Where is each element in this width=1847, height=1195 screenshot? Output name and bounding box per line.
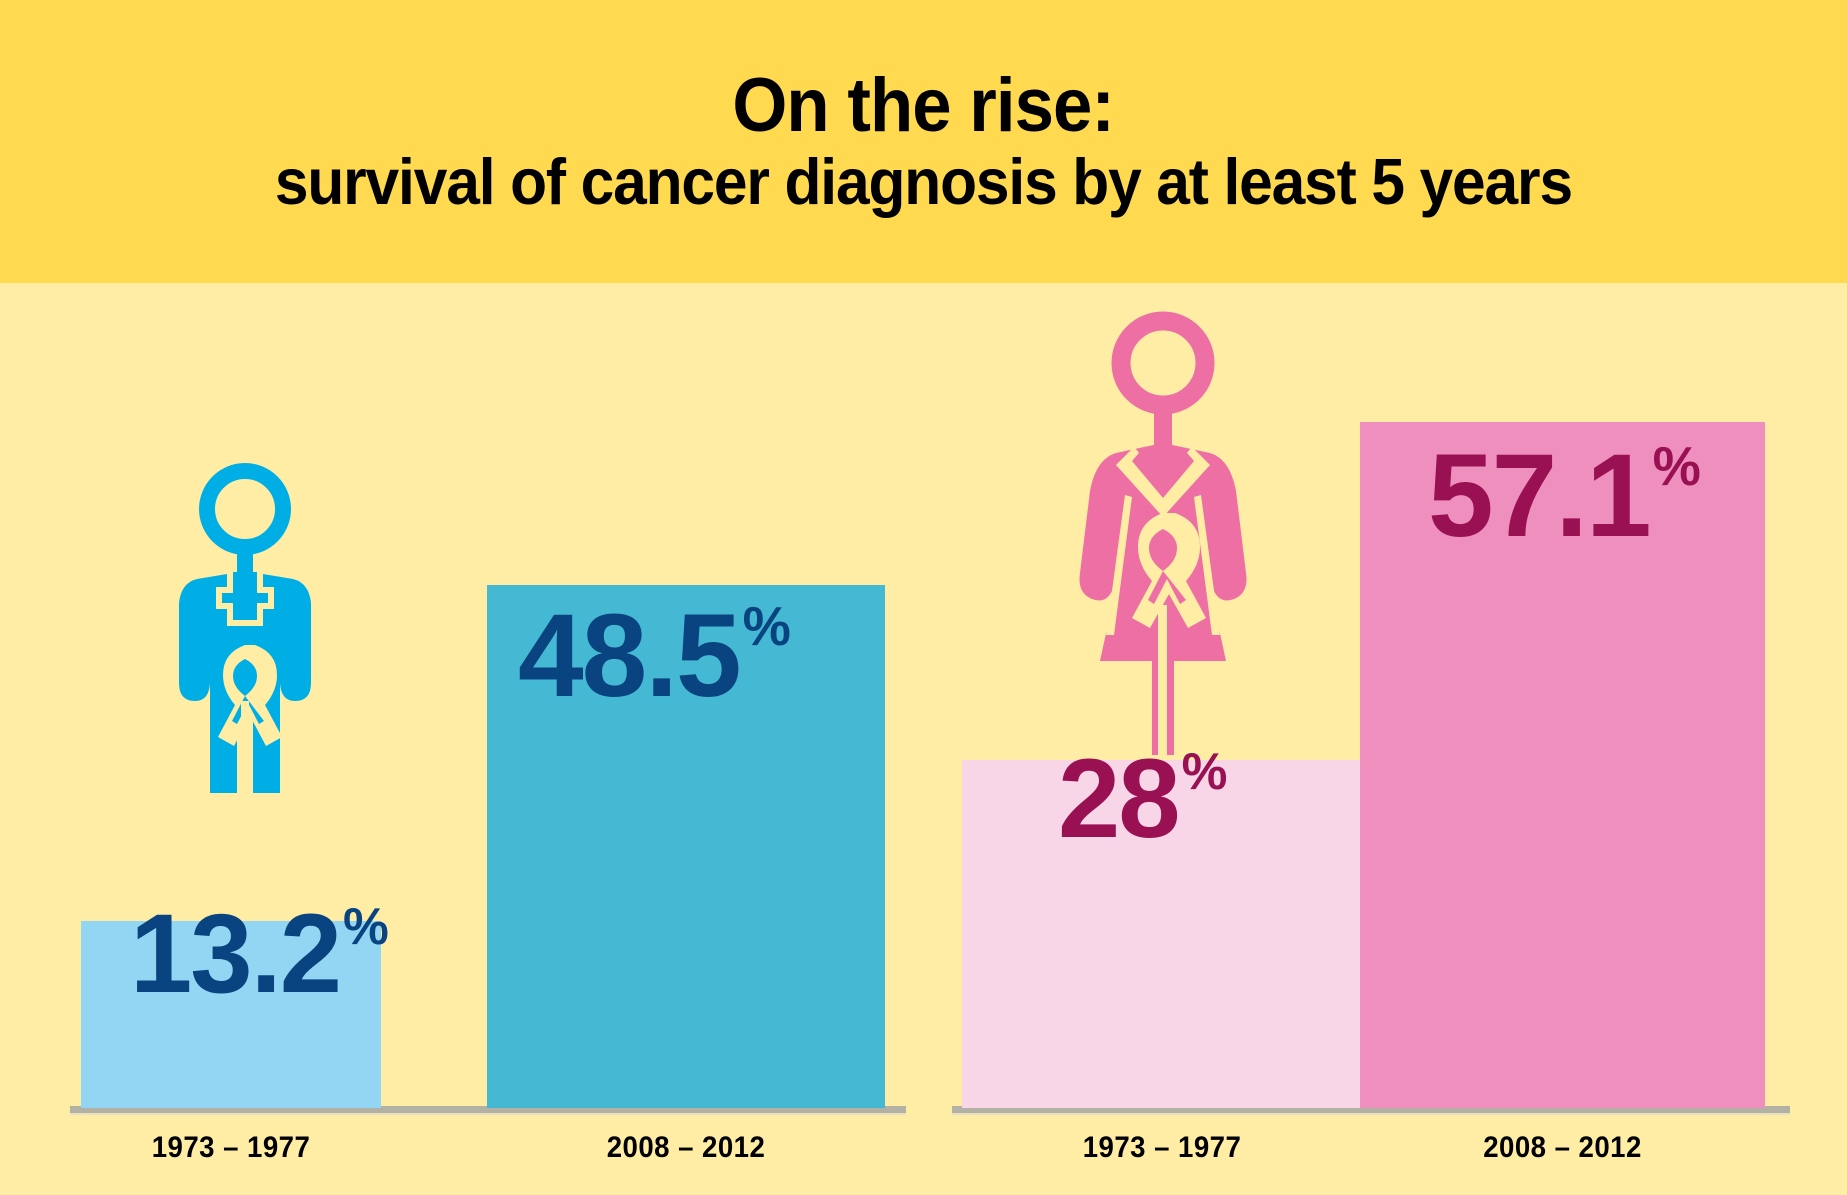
female-figure-icon	[1078, 305, 1248, 755]
male-figure-icon	[175, 463, 315, 808]
page-title-secondary: survival of cancer diagnosis by at least…	[275, 148, 1572, 216]
value-label-men-2008-2012: 48.5 %	[518, 597, 791, 715]
value-number-men-2008-2012: 48.5	[518, 597, 740, 715]
value-label-men-1973-1977: 13.2 %	[130, 898, 389, 1010]
page-title-primary: On the rise:	[733, 67, 1115, 145]
value-label-women-1973-1977: 28 %	[1058, 743, 1227, 855]
value-label-women-2008-2012: 57.1 %	[1428, 437, 1701, 555]
percent-sign-men-1973-1977: %	[343, 901, 389, 953]
x-axis-label-men-2008-2012: 2008 – 2012	[503, 1131, 869, 1165]
infographic-canvas: On the rise: survival of cancer diagnosi…	[0, 0, 1847, 1195]
value-number-women-1973-1977: 28	[1058, 743, 1179, 855]
x-axis-label-women-1973-1977: 1973 – 1977	[978, 1131, 1346, 1165]
chart-plot-area: 13.2 % 48.5 % 1973 – 1977 2008 – 2012	[0, 283, 1847, 1195]
x-axis-label-women-2008-2012: 2008 – 2012	[1376, 1131, 1749, 1165]
value-number-men-1973-1977: 13.2	[130, 898, 340, 1010]
percent-sign-women-1973-1977: %	[1182, 746, 1228, 798]
percent-sign-women-2008-2012: %	[1653, 440, 1701, 494]
value-number-women-2008-2012: 57.1	[1428, 437, 1650, 555]
percent-sign-men-2008-2012: %	[743, 600, 791, 654]
x-axis-label-men-1973-1977: 1973 – 1977	[93, 1131, 369, 1165]
header-band: On the rise: survival of cancer diagnosi…	[0, 0, 1847, 283]
